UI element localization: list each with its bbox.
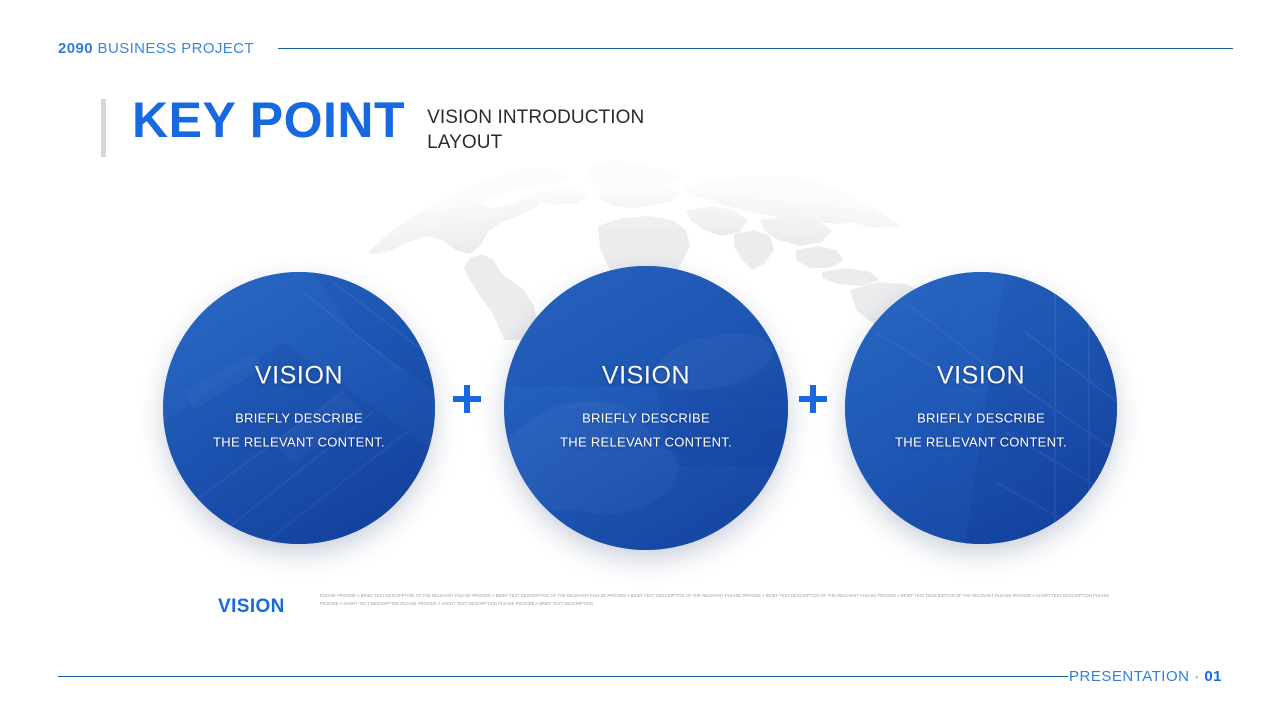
footer-label: PRESENTATION · 01: [1069, 668, 1222, 685]
caption-block: VISION PLEASE PROVIDE A BRIEF TEXT DESCR…: [218, 592, 1148, 618]
caption-body: PLEASE PROVIDE A BRIEF TEXT DESCRIPTION …: [320, 592, 1120, 608]
vision-card-2[interactable]: VISION BRIEFLY DESCRIBE THE RELEVANT CON…: [504, 266, 788, 550]
card-desc-line-2: THE RELEVANT CONTENT.: [181, 431, 417, 455]
plus-icon: [451, 383, 483, 415]
card-title: VISION: [522, 361, 770, 390]
footer-text: PRESENTATION ·: [1069, 668, 1204, 685]
card-desc-line-1: BRIEFLY DESCRIBE: [181, 406, 417, 430]
card-label-group: VISION BRIEFLY DESCRIBE THE RELEVANT CON…: [845, 361, 1117, 454]
card-title: VISION: [863, 361, 1099, 390]
slide-root: 2090 BUSINESS PROJECT KEY POINT VISION I…: [0, 0, 1280, 720]
card-desc-line-1: BRIEFLY DESCRIBE: [522, 406, 770, 430]
footer-divider: [58, 676, 1068, 677]
vision-card-1[interactable]: VISION BRIEFLY DESCRIBE THE RELEVANT CON…: [163, 272, 435, 544]
caption-title: VISION: [218, 596, 285, 618]
card-desc-line-2: THE RELEVANT CONTENT.: [863, 431, 1099, 455]
card-desc-line-1: BRIEFLY DESCRIBE: [863, 406, 1099, 430]
vision-card-3[interactable]: VISION BRIEFLY DESCRIBE THE RELEVANT CON…: [845, 272, 1117, 544]
card-title: VISION: [181, 361, 417, 390]
page-number: 01: [1204, 668, 1222, 685]
card-label-group: VISION BRIEFLY DESCRIBE THE RELEVANT CON…: [504, 361, 788, 454]
plus-icon: [797, 383, 829, 415]
card-desc-line-2: THE RELEVANT CONTENT.: [522, 431, 770, 455]
card-label-group: VISION BRIEFLY DESCRIBE THE RELEVANT CON…: [163, 361, 435, 454]
